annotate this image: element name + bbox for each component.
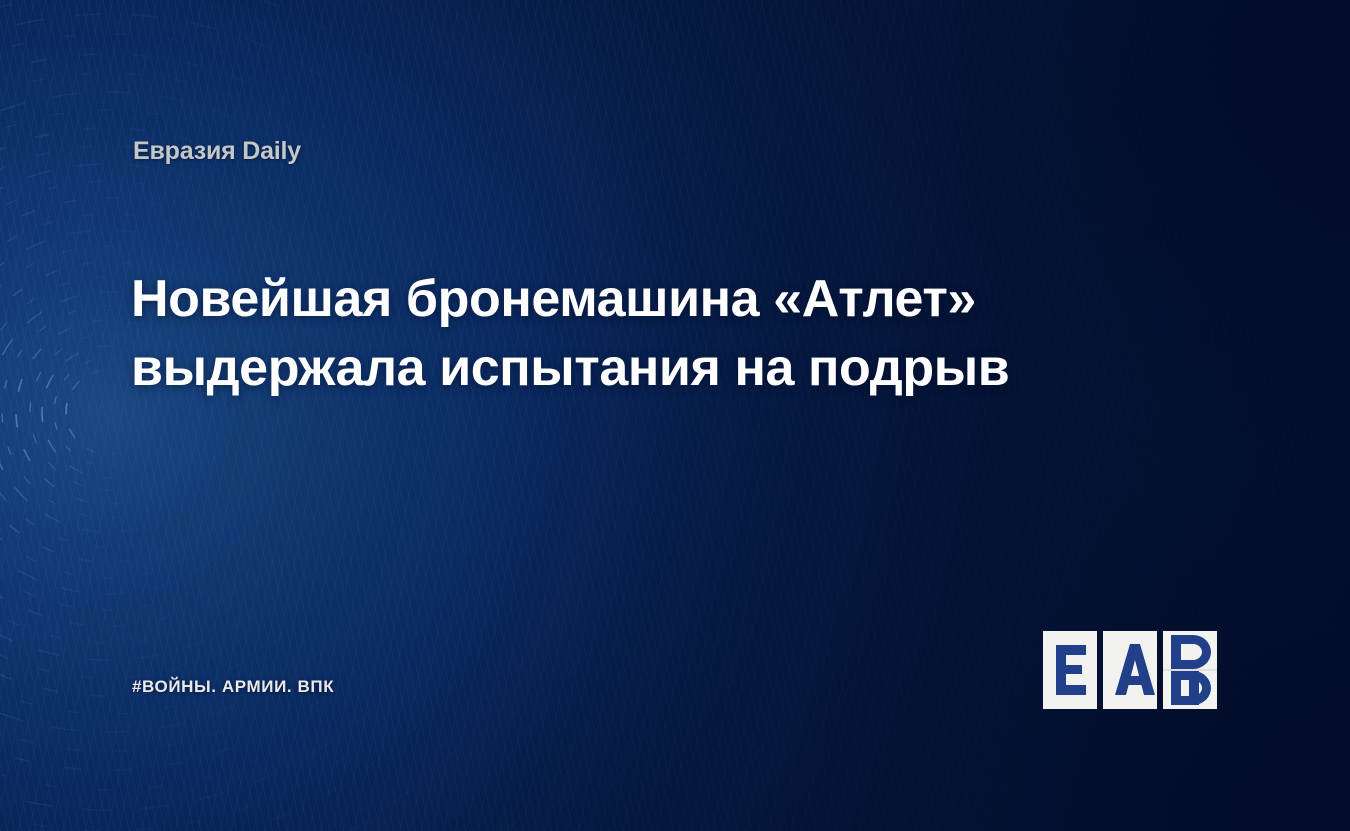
logo-letter-e	[1056, 645, 1086, 695]
share-card: Евразия Daily Новейшая бронемашина «Атле…	[0, 0, 1350, 831]
eadaily-logo	[1043, 631, 1223, 709]
headline-line-1: Новейшая бронемашина «Атлет»	[131, 265, 1091, 334]
headline-line-2: выдержала испытания на подрыв	[131, 334, 1091, 403]
page-title: Новейшая бронемашина «Атлет» выдержала и…	[131, 265, 1091, 402]
brand-label: Евразия Daily	[133, 137, 301, 166]
hashtag-label: #ВОЙНЫ. АРМИИ. ВПК	[132, 677, 334, 697]
